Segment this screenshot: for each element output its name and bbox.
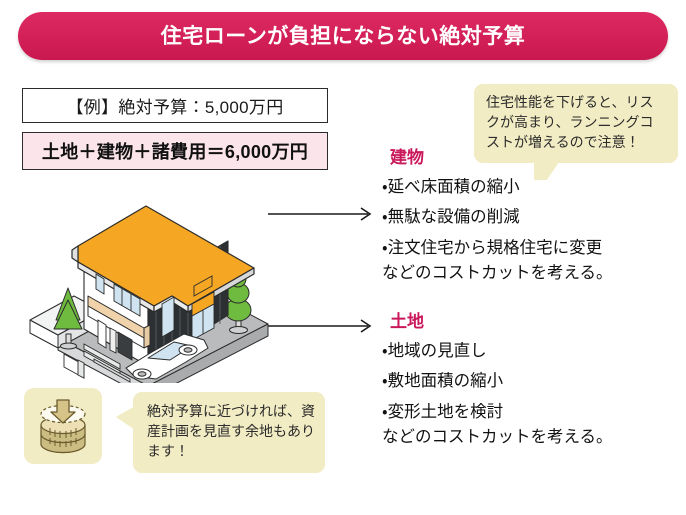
coin-stack-down-arrow-icon — [24, 388, 102, 464]
callout-performance-warning-text: 住宅性能を下げると、リスクが高まり、ランニングコストが増えるので注意！ — [486, 94, 653, 150]
isometric-house-illustration — [22, 188, 282, 383]
section-land-line-1: ・地域の見直し — [382, 339, 682, 364]
callout-budget-advice-text: 絶対予算に近づければ、資産計画を見直す余地もあります！ — [147, 403, 315, 459]
example-budget-box: 【例】絶対予算：5,000万円 — [22, 88, 328, 123]
example-budget-label: 【例】絶対予算：5,000万円 — [66, 93, 283, 118]
callout-budget-advice: 絶対予算に近づければ、資産計画を見直す余地もあります！ — [133, 392, 325, 473]
page-title-banner: 住宅ローンが負担にならない絶対予算 — [18, 12, 668, 60]
callout-performance-warning: 住宅性能を下げると、リスクが高まり、ランニングコストが増えるので注意！ — [474, 84, 678, 163]
page-title: 住宅ローンが負担にならない絶対予算 — [161, 26, 525, 47]
section-building-line-1: ・延べ床面積の縮小 — [382, 175, 682, 200]
coin-stack-tile — [24, 388, 102, 464]
section-land-line-3: ・変形土地を検討 — [382, 400, 682, 425]
section-building-line-2: ・無駄な設備の削減 — [382, 205, 682, 230]
arrow-to-building-section — [268, 206, 374, 227]
total-cost-label: 土地＋建物＋諸費用＝6,000万円 — [42, 138, 308, 164]
section-land-heading: 土地 — [390, 312, 682, 332]
infographic-canvas: 住宅ローンが負担にならない絶対予算 【例】絶対予算：5,000万円 土地＋建物＋… — [0, 0, 686, 515]
arrow-to-land-section — [268, 318, 374, 339]
section-land-line-2: ・敷地面積の縮小 — [382, 369, 682, 394]
callout-tail — [116, 406, 135, 430]
callout-tail — [534, 162, 559, 180]
section-building: 建物 ・延べ床面積の縮小 ・無駄な設備の削減 ・注文住宅から規格住宅に変更 など… — [382, 148, 682, 291]
total-cost-box: 土地＋建物＋諸費用＝6,000万円 — [22, 132, 328, 170]
section-land-line-4: などのコストカットを考える。 — [382, 425, 682, 450]
section-land: 土地 ・地域の見直し ・敷地面積の縮小 ・変形土地を検討 などのコストカットを考… — [382, 312, 682, 455]
section-building-line-3: ・注文住宅から規格住宅に変更 — [382, 236, 682, 261]
section-building-line-4: などのコストカットを考える。 — [382, 261, 682, 286]
